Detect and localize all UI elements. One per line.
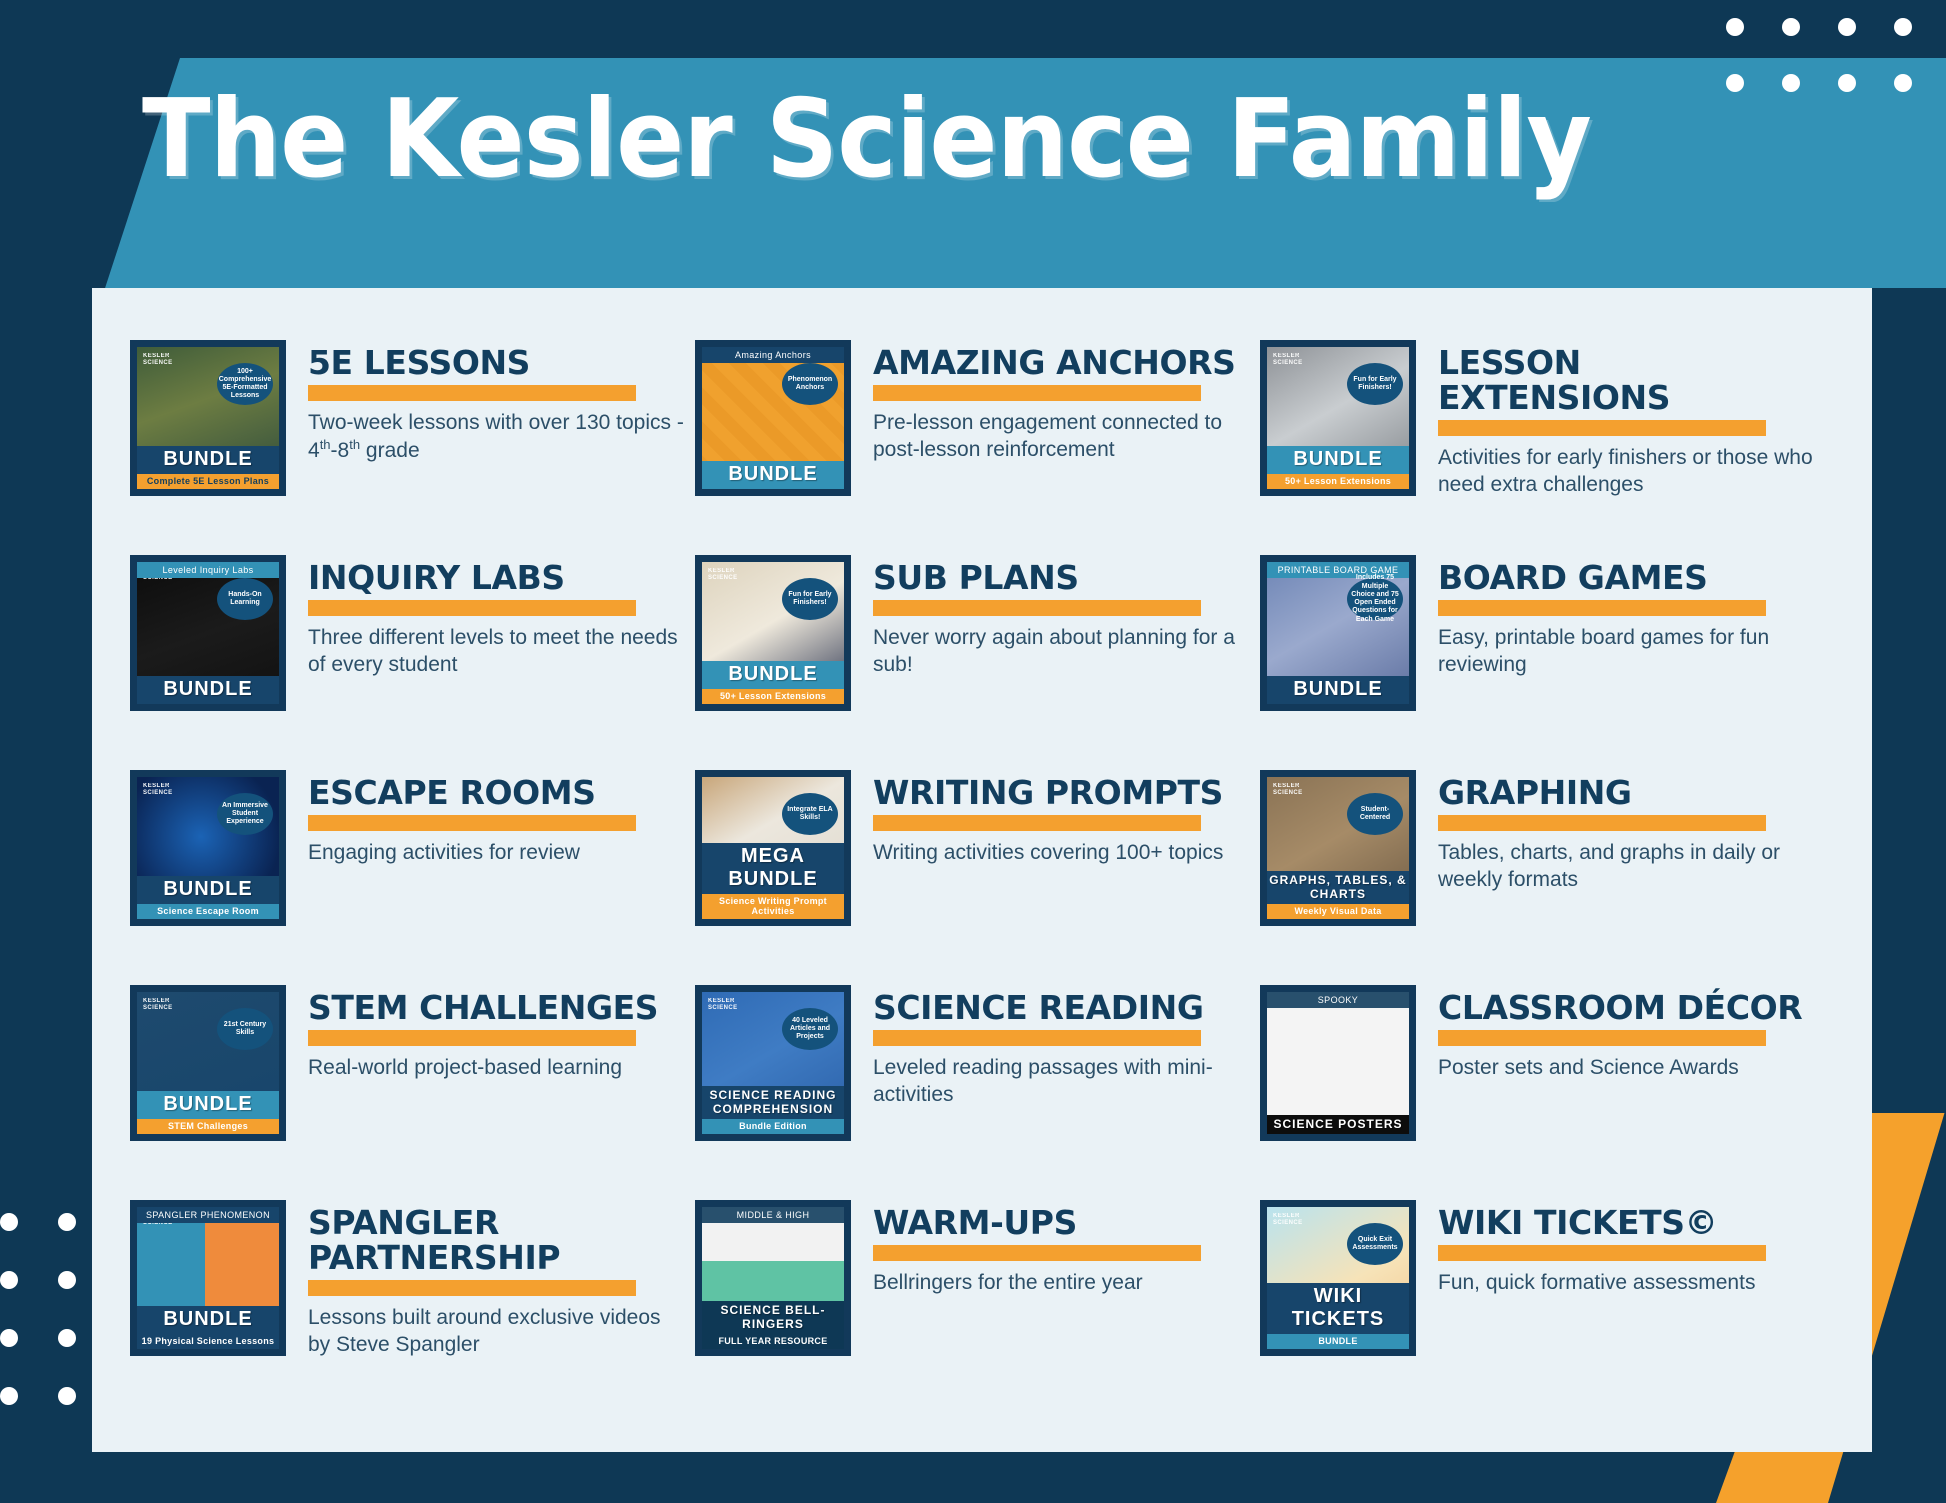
thumbnail-badge: 100+ Comprehensive 5E-Formatted Lessons <box>217 363 273 405</box>
product-text-block: WRITING PROMPTSWriting activities coveri… <box>851 770 1250 867</box>
product-title: AMAZING ANCHORS <box>873 346 1250 381</box>
product-item[interactable]: KESLER SCIENCEAn Immersive Student Exper… <box>130 770 685 985</box>
product-text-block: SCIENCE READINGLeveled reading passages … <box>851 985 1250 1109</box>
accent-rule <box>308 1280 636 1296</box>
product-thumbnail[interactable]: KESLER SCIENCE40 Leveled Articles and Pr… <box>695 985 851 1141</box>
product-text-block: LESSON EXTENSIONSActivities for early fi… <box>1416 340 1815 499</box>
thumbnail-caption-band: GRAPHS, TABLES, & CHARTSWeekly Visual Da… <box>1267 871 1409 919</box>
thumbnail-caption-band: BUNDLE <box>1267 676 1409 704</box>
product-description: Writing activities covering 100+ topics <box>873 840 1250 867</box>
thumbnail-bundle-label: SCIENCE BELL-RINGERS <box>702 1301 844 1334</box>
thumbnail-bundle-label: WIKI TICKETS <box>1267 1283 1409 1334</box>
decor-dot <box>0 1271 18 1289</box>
thumbnail-badge: Phenomenon Anchors <box>782 363 838 405</box>
thumbnail-badge: Fun for Early Finishers! <box>1347 363 1403 405</box>
thumbnail-top-label: MIDDLE & HIGH <box>702 1207 844 1223</box>
accent-rule <box>873 600 1201 616</box>
accent-rule <box>1438 1245 1766 1261</box>
product-description: Lessons built around exclusive videos by… <box>308 1305 685 1359</box>
kesler-science-logo-icon: KESLER SCIENCE <box>1273 783 1303 801</box>
thumbnail-caption-band: SCIENCE POSTERS <box>1267 1115 1409 1134</box>
product-thumbnail[interactable]: PRINTABLE BOARD GAMEIncludes 75 Multiple… <box>1260 555 1416 711</box>
product-title: LESSON EXTENSIONS <box>1438 346 1815 416</box>
product-thumbnail[interactable]: SPOOKYSCIENCE POSTERS <box>1260 985 1416 1141</box>
product-title: WARM-UPS <box>873 1206 1250 1241</box>
product-text-block: WIKI TICKETS©Fun, quick formative assess… <box>1416 1200 1815 1297</box>
thumbnail-caption-band: SCIENCE READING COMPREHENSIONBundle Edit… <box>702 1086 844 1134</box>
thumbnail-badge: Student-Centered <box>1347 793 1403 835</box>
thumbnail-badge: Fun for Early Finishers! <box>782 578 838 620</box>
product-title: GRAPHING <box>1438 776 1815 811</box>
product-thumbnail[interactable]: KESLER SCIENCESPANGLER PHENOMENONBUNDLE1… <box>130 1200 286 1356</box>
decor-dot <box>1782 18 1800 36</box>
product-thumbnail[interactable]: Integrate ELA Skills!MEGA BUNDLEScience … <box>695 770 851 926</box>
thumbnail-badge: Hands-On Learning <box>217 578 273 620</box>
kesler-science-logo-icon: KESLER SCIENCE <box>708 568 738 586</box>
product-text-block: 5E LESSONSTwo-week lessons with over 130… <box>286 340 685 465</box>
product-description: Activities for early finishers or those … <box>1438 445 1815 499</box>
thumbnail-caption-band: SCIENCE BELL-RINGERSFULL YEAR RESOURCE <box>702 1301 844 1349</box>
kesler-science-logo-icon: KESLER SCIENCE <box>1273 1213 1303 1231</box>
product-item[interactable]: Integrate ELA Skills!MEGA BUNDLEScience … <box>695 770 1250 985</box>
thumbnail-sub-label: BUNDLE <box>1267 1334 1409 1349</box>
product-title: WRITING PROMPTS <box>873 776 1250 811</box>
product-title: SCIENCE READING <box>873 991 1250 1026</box>
product-description: Easy, printable board games for fun revi… <box>1438 625 1815 679</box>
kesler-science-logo-icon: KESLER SCIENCE <box>143 998 173 1016</box>
thumbnail-badge: 21st Century Skills <box>217 1008 273 1050</box>
product-title: SUB PLANS <box>873 561 1250 596</box>
accent-rule <box>1438 420 1766 436</box>
decor-dot <box>1726 18 1744 36</box>
product-title: WIKI TICKETS© <box>1438 1206 1815 1241</box>
product-text-block: GRAPHINGTables, charts, and graphs in da… <box>1416 770 1815 894</box>
thumbnail-sub-label: Complete 5E Lesson Plans <box>137 474 279 489</box>
accent-rule <box>308 600 636 616</box>
thumbnail-sub-label: Weekly Visual Data <box>1267 904 1409 919</box>
thumbnail-caption-band: BUNDLE19 Physical Science Lessons <box>137 1306 279 1349</box>
thumbnail-caption-band: BUNDLEComplete 5E Lesson Plans <box>137 446 279 489</box>
thumbnail-bundle-label: SCIENCE POSTERS <box>1267 1115 1409 1134</box>
thumbnail-sub-label: Science Escape Room <box>137 904 279 919</box>
thumbnail-caption-band: WIKI TICKETSBUNDLE <box>1267 1283 1409 1349</box>
accent-rule <box>1438 600 1766 616</box>
ordinal-suffix: th <box>320 437 331 452</box>
product-description: Tables, charts, and graphs in daily or w… <box>1438 840 1815 894</box>
product-description: Pre-lesson engagement connected to post-… <box>873 410 1250 464</box>
product-description: Bellringers for the entire year <box>873 1270 1250 1297</box>
accent-rule <box>1438 815 1766 831</box>
thumbnail-sub-label: 50+ Lesson Extensions <box>1267 474 1409 489</box>
thumbnail-caption-band: BUNDLE <box>702 461 844 489</box>
product-item[interactable]: Amazing AnchorsPhenomenon AnchorsBUNDLEA… <box>695 340 1250 555</box>
product-text-block: SPANGLER PARTNERSHIPLessons built around… <box>286 1200 685 1359</box>
thumbnail-sub-label: Bundle Edition <box>702 1119 844 1134</box>
thumbnail-bundle-label: GRAPHS, TABLES, & CHARTS <box>1267 871 1409 904</box>
thumbnail-bundle-label: MEGA BUNDLE <box>702 843 844 894</box>
thumbnail-top-label: SPANGLER PHENOMENON <box>137 1207 279 1223</box>
accent-rule <box>873 1030 1201 1046</box>
product-description: Fun, quick formative assessments <box>1438 1270 1815 1297</box>
decor-dot <box>0 1387 18 1405</box>
thumbnail-top-label: SPOOKY <box>1267 992 1409 1008</box>
product-text-block: WARM-UPSBellringers for the entire year <box>851 1200 1250 1297</box>
decor-dot <box>1894 74 1912 92</box>
product-thumbnail[interactable]: KESLER SCIENCEQuick Exit AssessmentsWIKI… <box>1260 1200 1416 1356</box>
thumbnail-caption-band: BUNDLEScience Escape Room <box>137 876 279 919</box>
product-item[interactable]: KESLER SCIENCESPANGLER PHENOMENONBUNDLE1… <box>130 1200 685 1415</box>
ordinal-suffix: th <box>349 437 360 452</box>
product-title: CLASSROOM DÉCOR <box>1438 991 1815 1026</box>
product-item[interactable]: KESLER SCIENCELeveled Inquiry LabsHands-… <box>130 555 685 770</box>
decor-dot <box>1838 18 1856 36</box>
accent-rule <box>873 1245 1201 1261</box>
product-item[interactable]: KESLER SCIENCE100+ Comprehensive 5E-Form… <box>130 340 685 555</box>
thumbnail-caption-band: BUNDLE <box>137 676 279 704</box>
kesler-science-logo-icon: KESLER SCIENCE <box>143 783 173 801</box>
product-description: Two-week lessons with over 130 topics - … <box>308 410 685 465</box>
thumbnail-bundle-label: SCIENCE READING COMPREHENSION <box>702 1086 844 1119</box>
product-title: ESCAPE ROOMS <box>308 776 685 811</box>
thumbnail-artwork <box>1267 992 1409 1134</box>
product-thumbnail[interactable]: KESLER SCIENCEFun for Early Finishers!BU… <box>695 555 851 711</box>
product-item[interactable]: SPOOKYSCIENCE POSTERSCLASSROOM DÉCORPost… <box>1260 985 1815 1200</box>
kesler-science-logo-icon: KESLER SCIENCE <box>708 998 738 1016</box>
product-description: Poster sets and Science Awards <box>1438 1055 1815 1082</box>
decor-dot <box>1838 74 1856 92</box>
product-thumbnail[interactable]: KESLER SCIENCEStudent-CenteredGRAPHS, TA… <box>1260 770 1416 926</box>
product-item[interactable]: KESLER SCIENCEStudent-CenteredGRAPHS, TA… <box>1260 770 1815 985</box>
accent-rule <box>1438 1030 1766 1046</box>
product-description: Engaging activities for review <box>308 840 685 867</box>
product-title: BOARD GAMES <box>1438 561 1815 596</box>
thumbnail-badge: Quick Exit Assessments <box>1347 1223 1403 1265</box>
product-title: SPANGLER PARTNERSHIP <box>308 1206 685 1276</box>
decor-dot <box>58 1213 76 1231</box>
product-text-block: BOARD GAMESEasy, printable board games f… <box>1416 555 1815 679</box>
accent-rule <box>308 385 636 401</box>
thumbnail-bundle-label: BUNDLE <box>702 461 844 489</box>
product-thumbnail[interactable]: KESLER SCIENCEAn Immersive Student Exper… <box>130 770 286 926</box>
product-description: Never worry again about planning for a s… <box>873 625 1250 679</box>
product-title: 5E LESSONS <box>308 346 685 381</box>
thumbnail-bundle-label: BUNDLE <box>1267 676 1409 704</box>
decor-dot <box>58 1329 76 1347</box>
kesler-science-logo-icon: KESLER SCIENCE <box>1273 353 1303 371</box>
product-thumbnail[interactable]: KESLER SCIENCELeveled Inquiry LabsHands-… <box>130 555 286 711</box>
product-item[interactable]: MIDDLE & HIGHSCIENCE BELL-RINGERSFULL YE… <box>695 1200 1250 1415</box>
decor-dot <box>58 1271 76 1289</box>
thumbnail-badge: Integrate ELA Skills! <box>782 793 838 835</box>
product-thumbnail[interactable]: KESLER SCIENCE100+ Comprehensive 5E-Form… <box>130 340 286 496</box>
thumbnail-bundle-label: BUNDLE <box>137 446 279 474</box>
product-item[interactable]: KESLER SCIENCE21st Century SkillsBUNDLES… <box>130 985 685 1200</box>
thumbnail-caption-band: MEGA BUNDLEScience Writing Prompt Activi… <box>702 843 844 919</box>
accent-rule <box>308 815 636 831</box>
thumbnail-sub-label: Science Writing Prompt Activities <box>702 894 844 919</box>
dot-grid-top-right <box>1726 18 1946 130</box>
product-thumbnail[interactable]: KESLER SCIENCEFun for Early Finishers!BU… <box>1260 340 1416 496</box>
decor-dot <box>1782 74 1800 92</box>
decor-dot <box>1894 18 1912 36</box>
thumbnail-bundle-label: BUNDLE <box>137 1306 279 1334</box>
product-description: Three different levels to meet the needs… <box>308 625 685 679</box>
thumbnail-bundle-label: BUNDLE <box>702 661 844 689</box>
decor-dot <box>0 1329 18 1347</box>
thumbnail-bundle-label: BUNDLE <box>137 1091 279 1119</box>
product-item[interactable]: KESLER SCIENCEFun for Early Finishers!BU… <box>1260 340 1815 555</box>
thumbnail-sub-label: STEM Challenges <box>137 1119 279 1134</box>
product-text-block: SUB PLANSNever worry again about plannin… <box>851 555 1250 679</box>
product-text-block: CLASSROOM DÉCORPoster sets and Science A… <box>1416 985 1815 1082</box>
thumbnail-caption-band: BUNDLESTEM Challenges <box>137 1091 279 1134</box>
decor-dot <box>0 1213 18 1231</box>
thumbnail-sub-label: 50+ Lesson Extensions <box>702 689 844 704</box>
thumbnail-top-label: Amazing Anchors <box>702 347 844 363</box>
product-text-block: AMAZING ANCHORSPre-lesson engagement con… <box>851 340 1250 464</box>
accent-rule <box>873 815 1201 831</box>
thumbnail-bundle-label: BUNDLE <box>1267 446 1409 474</box>
product-title: STEM CHALLENGES <box>308 991 685 1026</box>
thumbnail-sub-label: 19 Physical Science Lessons <box>137 1334 279 1349</box>
product-thumbnail[interactable]: MIDDLE & HIGHSCIENCE BELL-RINGERSFULL YE… <box>695 1200 851 1356</box>
decor-dot <box>58 1387 76 1405</box>
accent-rule <box>873 385 1201 401</box>
product-text-block: ESCAPE ROOMSEngaging activities for revi… <box>286 770 685 867</box>
thumbnail-badge: Includes 75 Multiple Choice and 75 Open … <box>1347 578 1403 620</box>
thumbnail-caption-band: BUNDLE50+ Lesson Extensions <box>1267 446 1409 489</box>
thumbnail-top-label: Leveled Inquiry Labs <box>137 562 279 578</box>
poster-root: The Kesler Science Family KESLER SCIENCE… <box>0 0 1946 1503</box>
product-item[interactable]: KESLER SCIENCEQuick Exit AssessmentsWIKI… <box>1260 1200 1815 1415</box>
accent-rule <box>308 1030 636 1046</box>
product-grid: KESLER SCIENCE100+ Comprehensive 5E-Form… <box>130 340 1830 1415</box>
product-item[interactable]: KESLER SCIENCE40 Leveled Articles and Pr… <box>695 985 1250 1200</box>
product-description: Real-world project-based learning <box>308 1055 685 1082</box>
thumbnail-badge: An Immersive Student Experience <box>217 793 273 835</box>
decor-dot <box>1726 74 1744 92</box>
product-description: Leveled reading passages with mini-activ… <box>873 1055 1250 1109</box>
thumbnail-caption-band: BUNDLE50+ Lesson Extensions <box>702 661 844 704</box>
thumbnail-bundle-label: BUNDLE <box>137 676 279 704</box>
thumbnail-sub-label: FULL YEAR RESOURCE <box>702 1334 844 1349</box>
thumbnail-badge: 40 Leveled Articles and Projects <box>782 1008 838 1050</box>
product-thumbnail[interactable]: Amazing AnchorsPhenomenon AnchorsBUNDLE <box>695 340 851 496</box>
product-text-block: INQUIRY LABSThree different levels to me… <box>286 555 685 679</box>
product-thumbnail[interactable]: KESLER SCIENCE21st Century SkillsBUNDLES… <box>130 985 286 1141</box>
page-title: The Kesler Science Family <box>142 86 1591 194</box>
product-text-block: STEM CHALLENGESReal-world project-based … <box>286 985 685 1082</box>
product-item[interactable]: KESLER SCIENCEFun for Early Finishers!BU… <box>695 555 1250 770</box>
thumbnail-bundle-label: BUNDLE <box>137 876 279 904</box>
kesler-science-logo-icon: KESLER SCIENCE <box>143 353 173 371</box>
product-item[interactable]: PRINTABLE BOARD GAMEIncludes 75 Multiple… <box>1260 555 1815 770</box>
product-title: INQUIRY LABS <box>308 561 685 596</box>
